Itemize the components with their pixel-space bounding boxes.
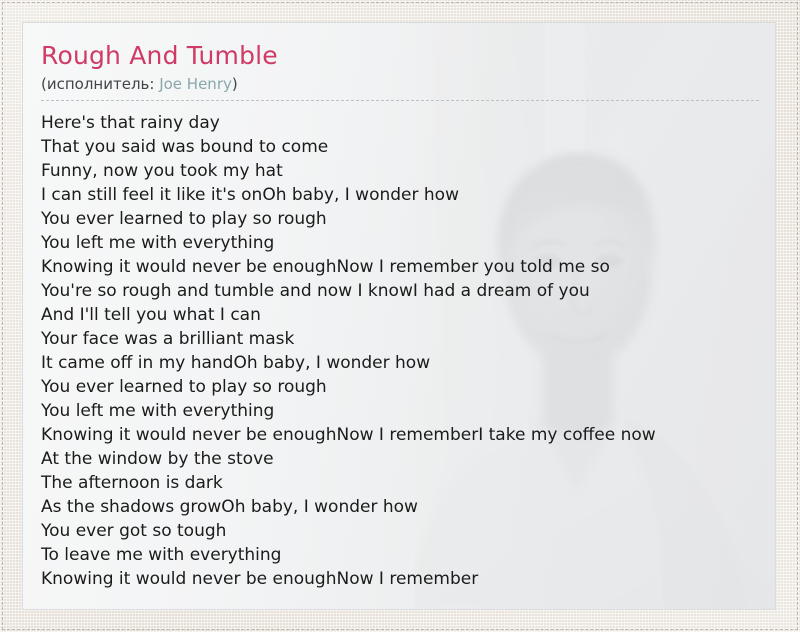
lyric-line: You ever learned to play so rough (41, 375, 759, 399)
lyric-line: To leave me with everything (41, 543, 759, 567)
lyric-line: Knowing it would never be enoughNow I re… (41, 567, 759, 591)
lyric-line: I can still feel it like it's onOh baby,… (41, 183, 759, 207)
title-divider (41, 100, 759, 101)
artist-link[interactable]: Joe Henry (159, 75, 232, 93)
lyric-line: The afternoon is dark (41, 471, 759, 495)
lyric-line: You left me with everything (41, 231, 759, 255)
lyric-line: Knowing it would never be enoughNow I re… (41, 255, 759, 279)
lyric-line: Knowing it would never be enoughNow I re… (41, 423, 759, 447)
lyric-line: Your face was a brilliant mask (41, 327, 759, 351)
page-frame: Rough And Tumble (исполнитель: Joe Henry… (0, 0, 800, 632)
lyric-line: At the window by the stove (41, 447, 759, 471)
lyric-line: That you said was bound to come (41, 135, 759, 159)
lyric-line: And I'll tell you what I can (41, 303, 759, 327)
lyric-line: Here's that rainy day (41, 111, 759, 135)
lyric-line: You ever learned to play so rough (41, 207, 759, 231)
lyrics-body: Here's that rainy day That you said was … (41, 111, 759, 591)
byline-prefix: (исполнитель: (41, 75, 159, 93)
byline-suffix: ) (232, 75, 238, 93)
lyric-line: Funny, now you took my hat (41, 159, 759, 183)
lyric-line: You ever got so tough (41, 519, 759, 543)
lyric-line: You're so rough and tumble and now I kno… (41, 279, 759, 303)
lyric-line: As the shadows growOh baby, I wonder how (41, 495, 759, 519)
lyrics-card: Rough And Tumble (исполнитель: Joe Henry… (22, 22, 776, 610)
lyric-line: It came off in my handOh baby, I wonder … (41, 351, 759, 375)
lyric-line: You left me with everything (41, 399, 759, 423)
page-title: Rough And Tumble (41, 41, 759, 71)
lyrics-content: Rough And Tumble (исполнитель: Joe Henry… (23, 23, 775, 609)
artist-byline: (исполнитель: Joe Henry) (41, 74, 759, 94)
